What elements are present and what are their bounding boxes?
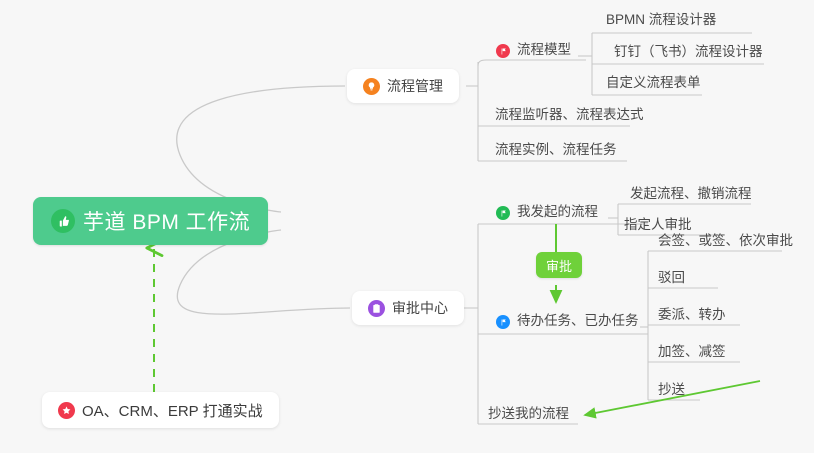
leaf-label: 流程实例、流程任务 <box>495 138 617 158</box>
leaf-label: 会签、或签、依次审批 <box>658 229 793 249</box>
branch-label-approval-center: 审批中心 <box>392 298 448 318</box>
mindmap-canvas: 芋道 BPM 工作流 流程管理 流程模型 BPMN 流程设计器 钉钉（飞书）流程… <box>0 0 814 453</box>
node-label-todo-done-tasks: 待办任务、已办任务 <box>517 309 639 329</box>
branch-node-process-management[interactable]: 流程管理 <box>347 69 459 103</box>
leaf-custom-process-form[interactable]: 自定义流程表单 <box>600 71 707 95</box>
leaf-countersign-or-sequential[interactable]: 会签、或签、依次审批 <box>652 229 799 253</box>
root-node[interactable]: 芋道 BPM 工作流 <box>33 197 268 245</box>
node-my-initiated-processes[interactable]: 我发起的流程 <box>492 200 604 224</box>
leaf-label: 加签、减签 <box>658 340 726 360</box>
node-label-process-model: 流程模型 <box>517 38 571 58</box>
callout-label: OA、CRM、ERP 打通实战 <box>82 400 263 421</box>
node-label-my-initiated-processes: 我发起的流程 <box>517 200 598 220</box>
tag-label: 审批 <box>546 256 572 275</box>
leaf-label: 钉钉（飞书）流程设计器 <box>614 40 763 60</box>
flag-icon <box>496 44 510 58</box>
leaf-process-instance-task[interactable]: 流程实例、流程任务 <box>489 138 623 162</box>
leaf-label: 流程监听器、流程表达式 <box>495 103 644 123</box>
leaf-label: 自定义流程表单 <box>606 71 701 91</box>
callout-node-integration[interactable]: OA、CRM、ERP 打通实战 <box>42 392 279 428</box>
leaf-label: 抄送我的流程 <box>488 402 569 422</box>
leaf-cc-to-me-processes[interactable]: 抄送我的流程 <box>482 402 575 426</box>
leaf-label: 发起流程、撤销流程 <box>630 182 752 202</box>
branch-node-approval-center[interactable]: 审批中心 <box>352 291 464 325</box>
flag-icon <box>496 315 510 329</box>
lightbulb-icon <box>363 78 380 95</box>
star-icon <box>58 402 75 419</box>
flag-icon <box>496 206 510 220</box>
leaf-dingtalk-feishu-designer[interactable]: 钉钉（飞书）流程设计器 <box>608 40 769 64</box>
node-process-model[interactable]: 流程模型 <box>492 38 577 62</box>
leaf-label: 抄送 <box>658 378 685 398</box>
tag-approval[interactable]: 审批 <box>536 252 582 278</box>
leaf-start-cancel-process[interactable]: 发起流程、撤销流程 <box>624 182 758 206</box>
leaf-process-listener-expression[interactable]: 流程监听器、流程表达式 <box>489 103 650 127</box>
clipboard-icon <box>368 300 385 317</box>
root-label: 芋道 BPM 工作流 <box>83 206 250 236</box>
branch-label-process-management: 流程管理 <box>387 76 443 96</box>
leaf-delegate-transfer[interactable]: 委派、转办 <box>652 303 732 327</box>
leaf-bpmn-designer[interactable]: BPMN 流程设计器 <box>600 8 722 32</box>
leaf-reject[interactable]: 驳回 <box>652 266 691 290</box>
leaf-carbon-copy[interactable]: 抄送 <box>652 378 691 402</box>
leaf-add-remove-signer[interactable]: 加签、减签 <box>652 340 732 364</box>
leaf-label: 委派、转办 <box>658 303 726 323</box>
leaf-label: BPMN 流程设计器 <box>606 8 716 28</box>
thumbs-up-icon <box>51 209 75 233</box>
leaf-label: 驳回 <box>658 266 685 286</box>
node-todo-done-tasks[interactable]: 待办任务、已办任务 <box>492 309 645 333</box>
